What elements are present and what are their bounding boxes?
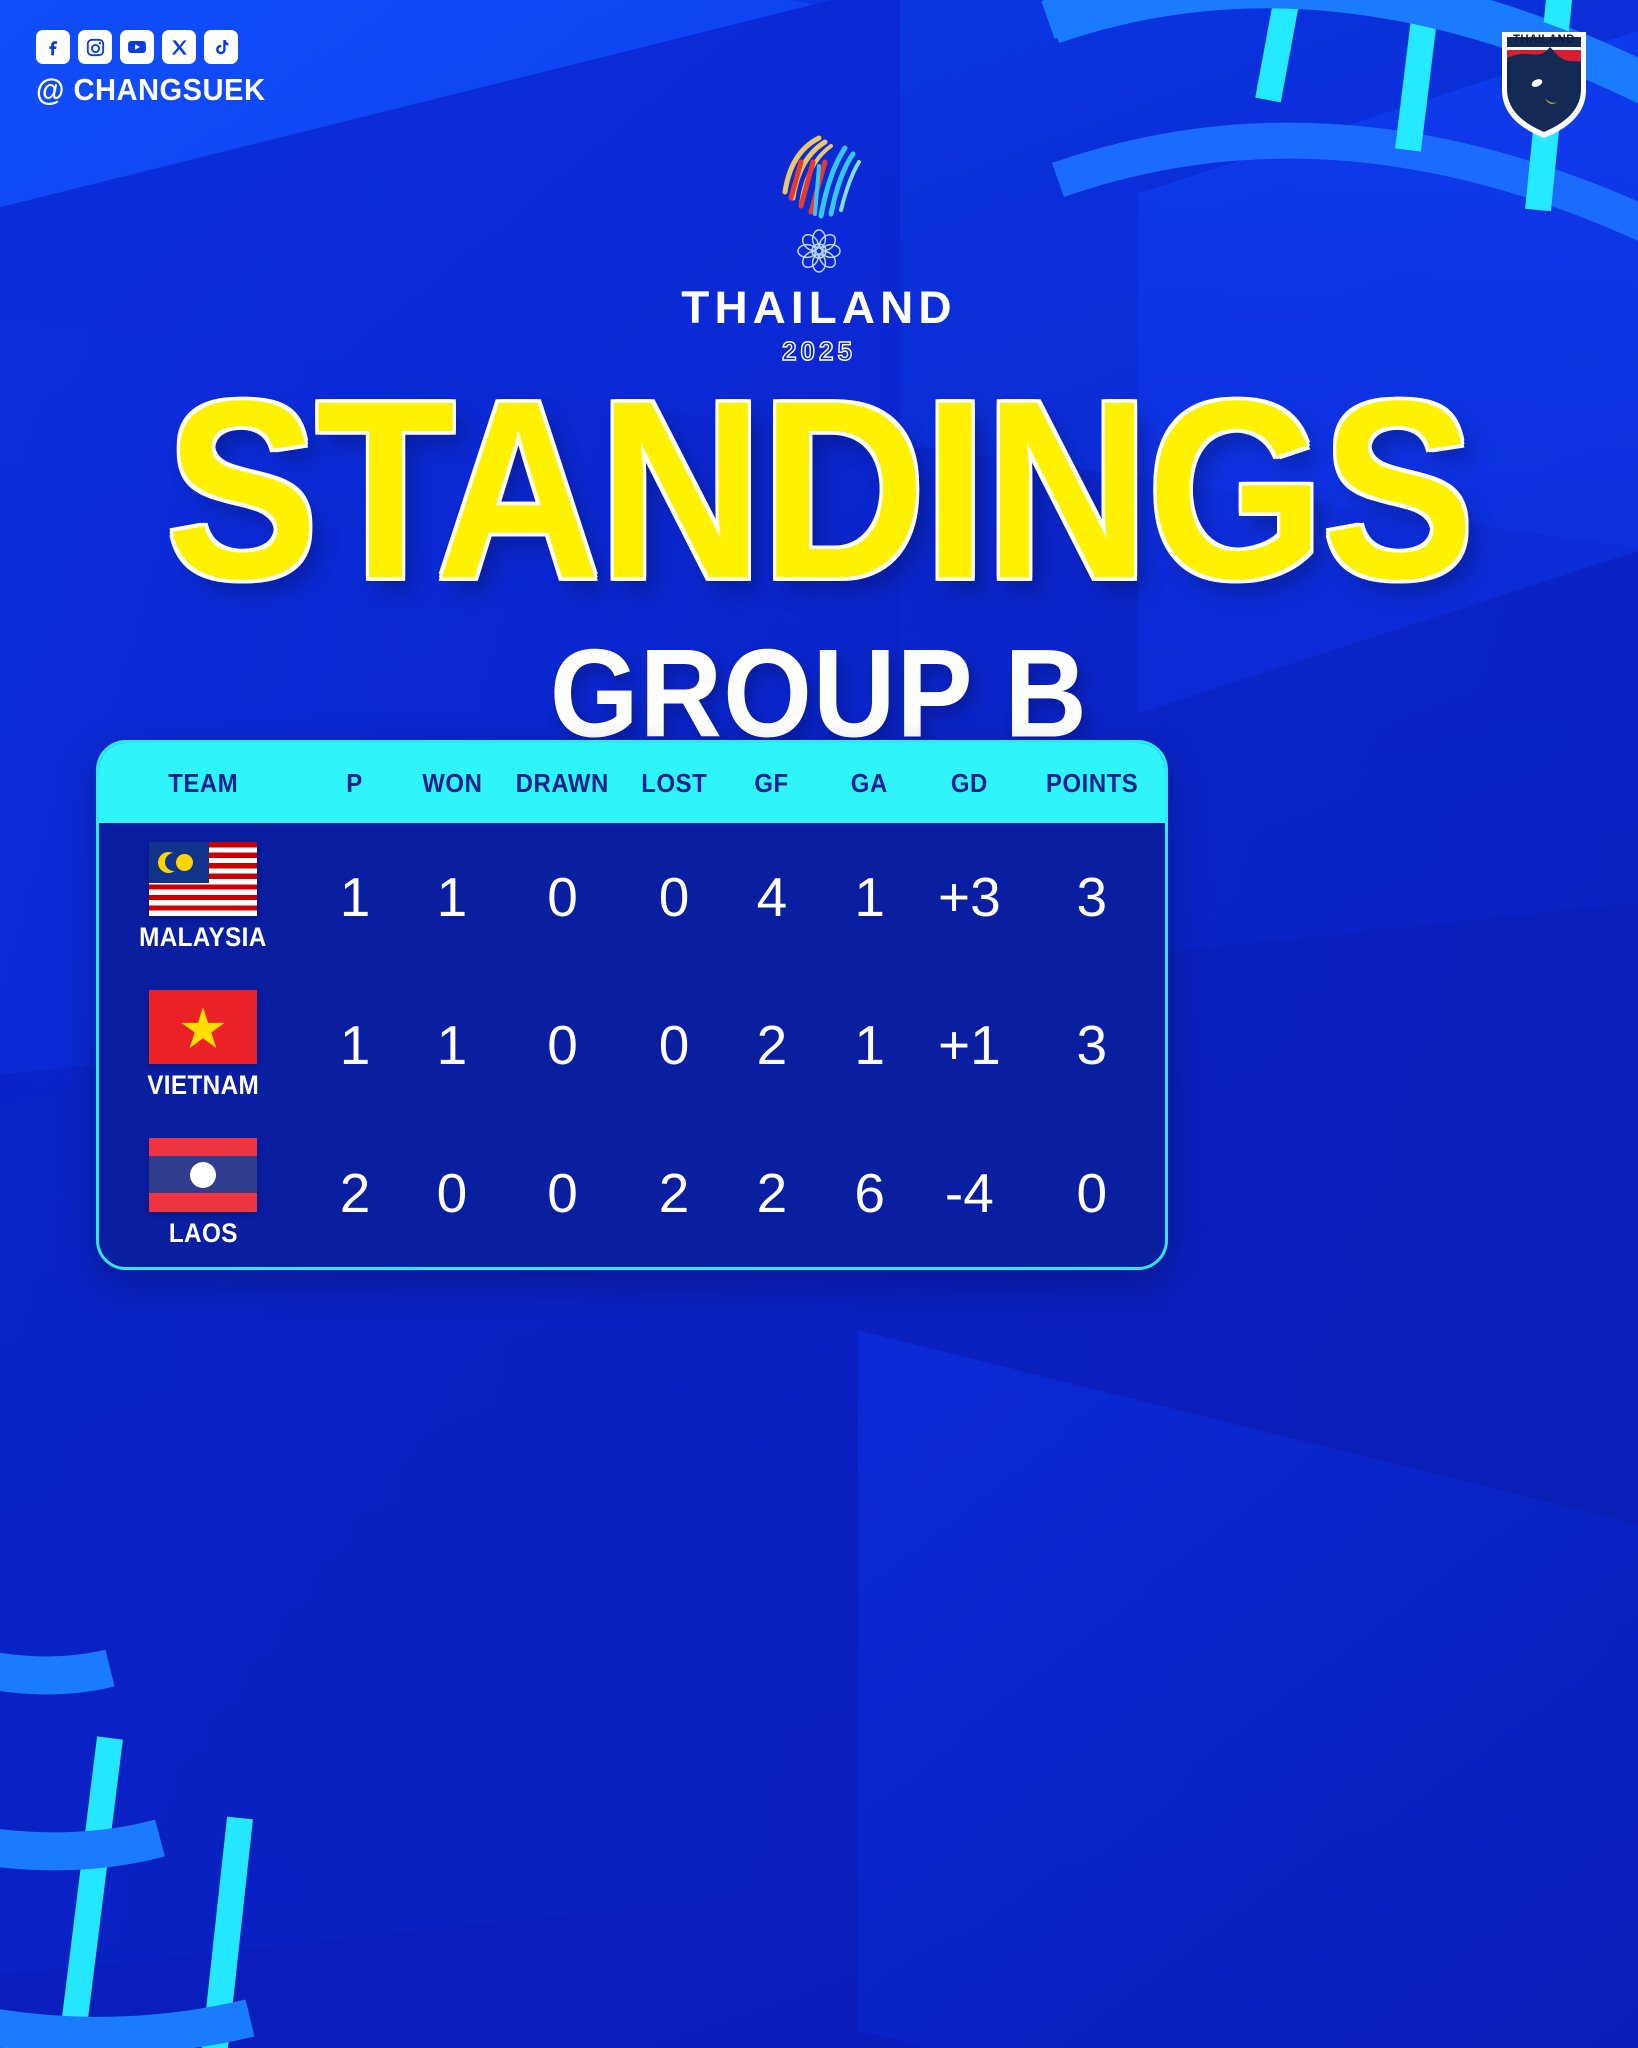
fa-badge-label: THAILAND (1513, 34, 1575, 46)
column-header-ga: GA (823, 768, 916, 799)
facebook-icon[interactable] (36, 30, 70, 64)
group-subtitle: GROUP B (550, 631, 1088, 756)
stat-gd: +1 (920, 1018, 1019, 1073)
stat-ga: 6 (819, 1166, 920, 1221)
rosette-icon (790, 222, 848, 280)
ribbon-decoration-bottom-left (0, 1548, 500, 2048)
team-cell: MALAYSIA (99, 842, 307, 953)
stat-points: 3 (1019, 870, 1165, 925)
stat-ga: 1 (819, 870, 920, 925)
stat-lost: 2 (624, 1166, 725, 1221)
sea-games-emblem-icon (763, 132, 875, 228)
stat-drawn: 0 (501, 1166, 624, 1221)
team-name: MALAYSIA (139, 922, 267, 953)
column-header-gd: GD (924, 768, 1015, 799)
laos-flag-icon (149, 1138, 257, 1212)
stat-lost: 0 (624, 870, 725, 925)
instagram-icon[interactable] (78, 30, 112, 64)
column-header-lost: LOST (628, 768, 721, 799)
table-row: VIETNAM 1 1 0 0 2 1 +1 3 (99, 971, 1165, 1119)
team-cell: LAOS (99, 1138, 307, 1249)
stat-gd: -4 (920, 1166, 1019, 1221)
column-header-points: POINTS (1025, 768, 1160, 799)
column-header-team: TEAM (107, 768, 299, 799)
stat-gf: 2 (724, 1018, 819, 1073)
table-row: MALAYSIA 1 1 0 0 4 1 +3 3 (99, 823, 1165, 971)
stat-won: 1 (403, 870, 502, 925)
column-header-won: WON (406, 768, 497, 799)
column-header-p: P (311, 768, 398, 799)
stat-won: 1 (403, 1018, 502, 1073)
stat-gf: 2 (724, 1166, 819, 1221)
stat-p: 2 (307, 1166, 402, 1221)
sea-games-logo: THAILAND 2025 (0, 132, 1638, 367)
stat-gd: +3 (920, 870, 1019, 925)
x-icon[interactable] (162, 30, 196, 64)
team-name: VIETNAM (147, 1070, 259, 1101)
team-cell: VIETNAM (99, 990, 307, 1101)
background-facet (858, 1330, 1638, 2048)
vietnam-flag-icon (149, 990, 257, 1064)
stat-won: 0 (403, 1166, 502, 1221)
stat-lost: 0 (624, 1018, 725, 1073)
social-handle: @ CHANGSUEK (36, 72, 265, 108)
social-cluster: @ CHANGSUEK (36, 30, 280, 108)
stat-ga: 1 (819, 1018, 920, 1073)
page-title: STANDINGS (166, 378, 1472, 601)
social-icons (36, 30, 280, 64)
standings-table: TEAM P WON DRAWN LOST GF GA GD POINTS MA… (96, 740, 1168, 1270)
stat-drawn: 0 (501, 870, 624, 925)
stat-drawn: 0 (501, 1018, 624, 1073)
column-header-gf: GF (728, 768, 815, 799)
table-row: LAOS 2 0 0 2 2 6 -4 0 (99, 1119, 1165, 1267)
event-logo-name: THAILAND (681, 282, 956, 334)
stat-points: 3 (1019, 1018, 1165, 1073)
table-body: MALAYSIA 1 1 0 0 4 1 +3 3 VIETNAM (99, 823, 1165, 1267)
malaysia-flag-icon (149, 842, 257, 916)
stat-p: 1 (307, 870, 402, 925)
column-header-drawn: DRAWN (506, 768, 619, 799)
tiktok-icon[interactable] (204, 30, 238, 64)
youtube-icon[interactable] (120, 30, 154, 64)
stat-gf: 4 (724, 870, 819, 925)
poster-canvas: @ CHANGSUEK THAILAND (0, 0, 1638, 2048)
stat-p: 1 (307, 1018, 402, 1073)
table-header-row: TEAM P WON DRAWN LOST GF GA GD POINTS (99, 743, 1165, 823)
team-name: LAOS (169, 1218, 238, 1249)
stat-points: 0 (1019, 1166, 1165, 1221)
thailand-fa-badge-icon: THAILAND (1498, 26, 1590, 142)
